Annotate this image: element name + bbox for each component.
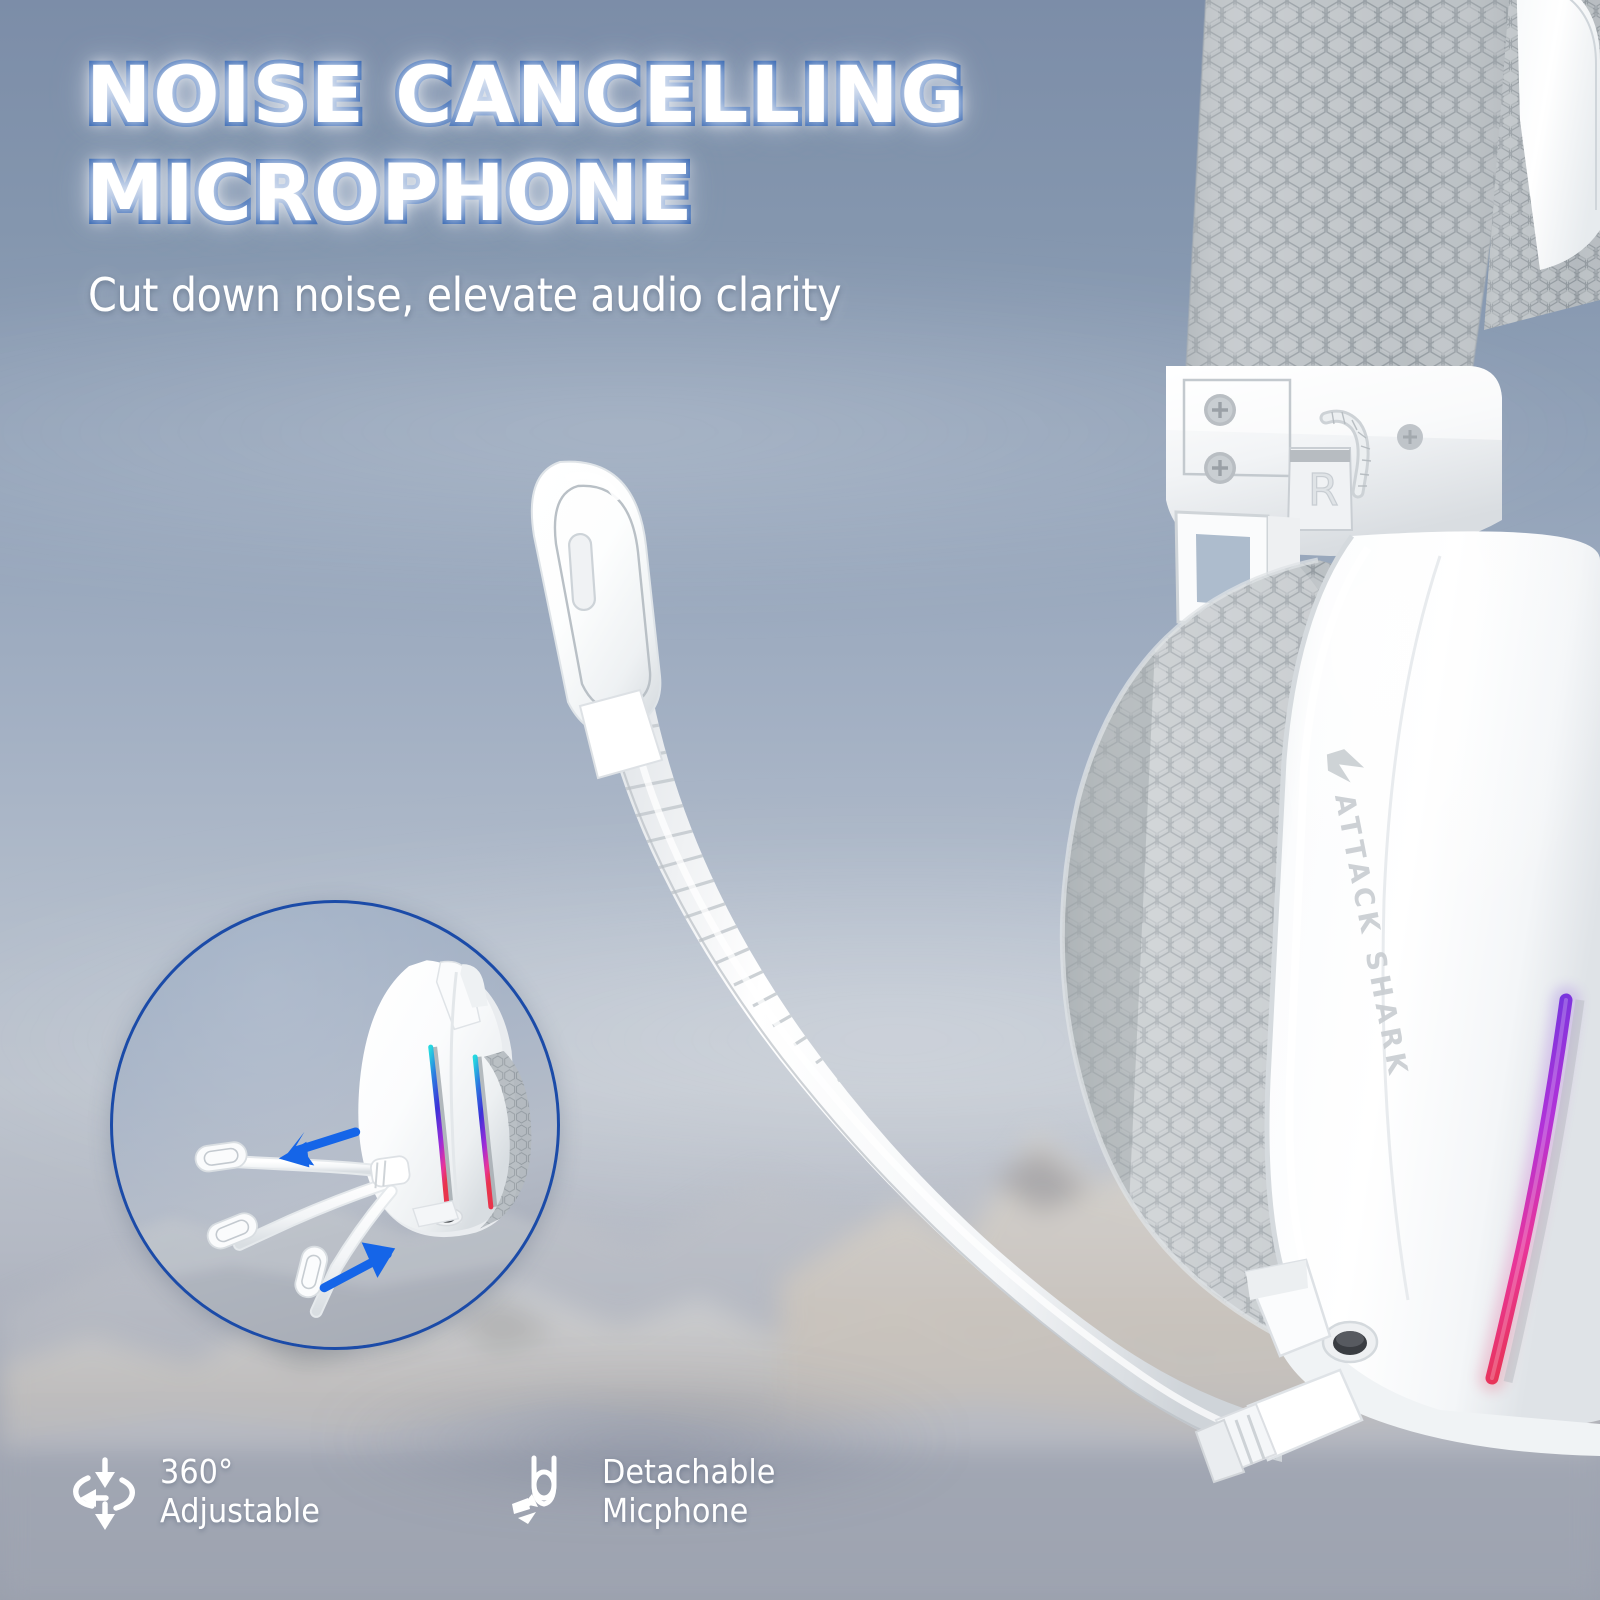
feature-360-line1: 360° [160,1452,320,1491]
inset-connector [370,1155,411,1188]
feature-detachable-line2: Micphone [602,1491,775,1530]
microphone-connector [1196,1370,1362,1482]
rotation-360-icon [66,1454,144,1534]
flexible-boom-arm [600,694,1282,1462]
feature-detachable-microphone: Detachable Micphone [508,1452,791,1534]
microphone-capsule [532,462,662,778]
feature-360-line2: Adjustable [160,1491,320,1530]
detachable-microphone-boom [0,0,1600,1600]
feature-detachable-line1: Detachable [602,1452,775,1491]
feature-highlights: 360° Adjustable Detachable Micphone [60,1452,820,1562]
product-marketing-image: R [0,0,1600,1600]
feature-detachable-label: Detachable Micphone [602,1452,775,1530]
inset-illustration [113,903,557,1347]
detachable-microphone-icon [508,1454,586,1534]
microphone-rotation-inset [110,900,560,1350]
feature-360-adjustable: 360° Adjustable [66,1452,334,1534]
feature-360-label: 360° Adjustable [160,1452,320,1530]
